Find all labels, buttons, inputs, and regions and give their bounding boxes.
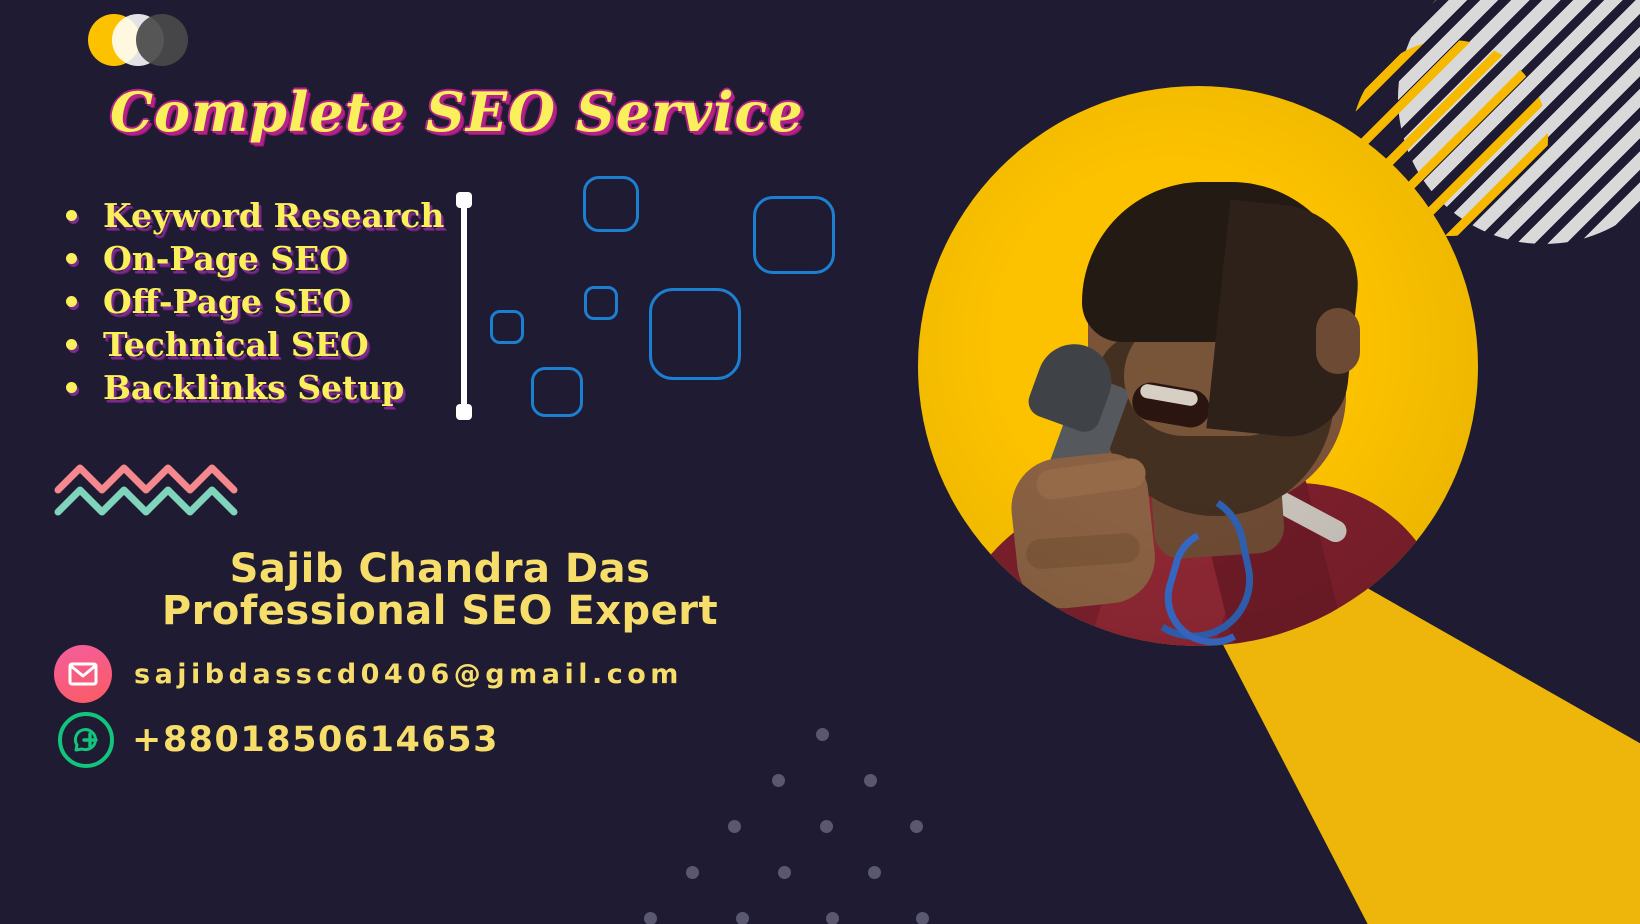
- list-item: Keyword Research: [66, 194, 444, 237]
- zigzag-decoration: [50, 450, 250, 530]
- bullet-dot-icon: [66, 253, 77, 264]
- contact-row-phone[interactable]: +8801850614653: [58, 712, 499, 768]
- blue-rounded-square-decoration: [531, 367, 583, 417]
- email-address: sajibdasscd0406@gmail.com: [134, 659, 683, 690]
- phone-number: +8801850614653: [132, 720, 499, 760]
- contact-row-email[interactable]: sajibdasscd0406@gmail.com: [54, 645, 683, 703]
- service-label: Keyword Research: [103, 196, 444, 235]
- bullet-dot-icon: [66, 210, 77, 221]
- list-item: Off-Page SEO: [66, 280, 444, 323]
- bullet-dot-icon: [66, 339, 77, 350]
- blue-rounded-square-decoration: [583, 176, 639, 232]
- blue-rounded-square-decoration: [490, 310, 524, 344]
- vertical-line-decoration: [461, 198, 467, 418]
- bullet-dot-icon: [66, 382, 77, 393]
- blue-rounded-square-decoration: [584, 286, 618, 320]
- email-envelope-icon: [54, 645, 112, 703]
- dot-grid-decoration: [640, 680, 1020, 924]
- logo-circle-gray: [136, 14, 188, 66]
- portrait-vignette: [918, 86, 1478, 646]
- list-item: Backlinks Setup: [66, 366, 444, 409]
- services-list: Keyword Research On-Page SEO Off-Page SE…: [66, 194, 444, 409]
- brand-logo[interactable]: [88, 14, 188, 66]
- bullet-dot-icon: [66, 296, 77, 307]
- page-title: Complete SEO Service: [110, 80, 804, 144]
- profile-title: Professional SEO Expert: [130, 590, 750, 632]
- list-item: On-Page SEO: [66, 237, 444, 280]
- seo-service-banner: Complete SEO Service Keyword Research On…: [0, 0, 1640, 924]
- service-label: Technical SEO: [103, 325, 369, 364]
- service-label: Off-Page SEO: [103, 282, 351, 321]
- profile-name: Sajib Chandra Das: [130, 548, 750, 590]
- service-label: Backlinks Setup: [103, 368, 404, 407]
- vertical-line-cap-top: [456, 192, 472, 208]
- blue-rounded-square-decoration: [649, 288, 741, 380]
- list-item: Technical SEO: [66, 323, 444, 366]
- profile-photo-circle: [918, 86, 1478, 646]
- blue-rounded-square-decoration: [753, 196, 835, 274]
- whatsapp-icon: [58, 712, 114, 768]
- profile-name-block: Sajib Chandra Das Professional SEO Exper…: [130, 548, 750, 633]
- vertical-line-cap-bottom: [456, 404, 472, 420]
- service-label: On-Page SEO: [103, 239, 348, 278]
